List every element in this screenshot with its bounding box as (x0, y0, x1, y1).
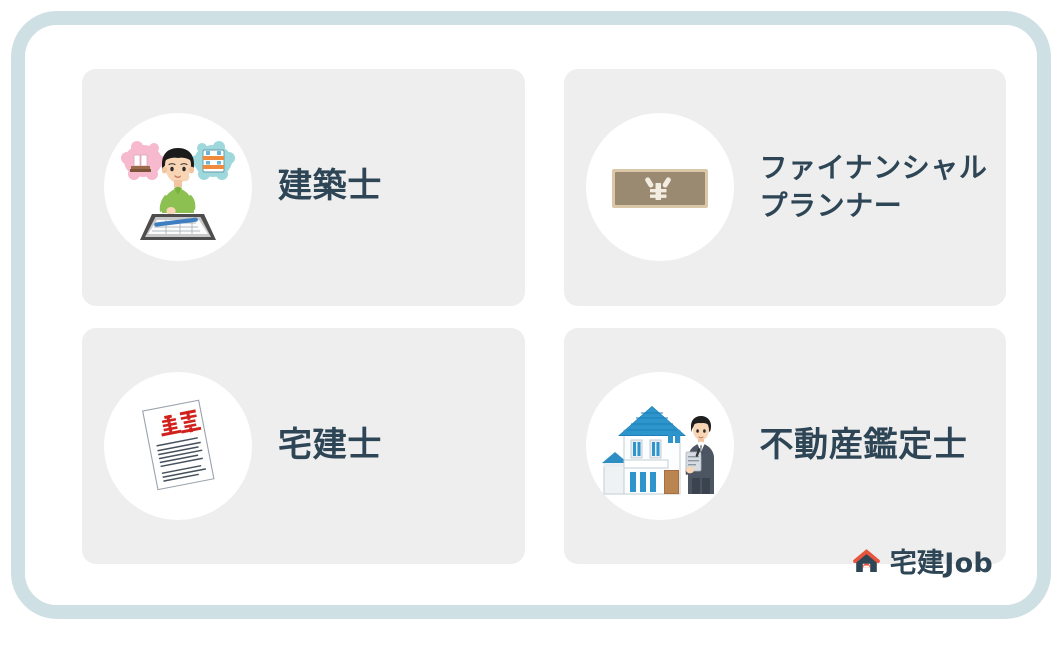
qualification-card-label: 宅建士 (252, 423, 513, 469)
brand-logo[interactable]: 宅建Job (852, 547, 993, 579)
qualification-card-takkenshi[interactable]: 宅建士 (82, 328, 525, 565)
important-document-illustration-icon (104, 372, 252, 520)
house-logo-icon (852, 547, 881, 579)
qualification-card-label: ファイナンシャル プランナー (734, 149, 995, 225)
qualification-card-label: 建築士 (252, 164, 513, 210)
brand-name: 宅建Job (890, 550, 993, 577)
architect-drafting-illustration-icon (104, 113, 252, 261)
yen-banknote-illustration-icon (586, 113, 734, 261)
decorative-frame: 建築士 (11, 11, 1051, 619)
qualification-card-label: 不動産鑑定士 (734, 423, 995, 469)
qualification-card-financial-planner[interactable]: ファイナンシャル プランナー (564, 69, 1007, 306)
frame-inner-surface: 建築士 (25, 25, 1037, 605)
house-appraiser-illustration-icon (586, 372, 734, 520)
qualification-card-grid: 建築士 (82, 69, 1006, 564)
qualification-card-kenchikushi[interactable]: 建築士 (82, 69, 525, 306)
qualification-card-fudosan-kanteishi[interactable]: 不動産鑑定士 (564, 328, 1007, 565)
